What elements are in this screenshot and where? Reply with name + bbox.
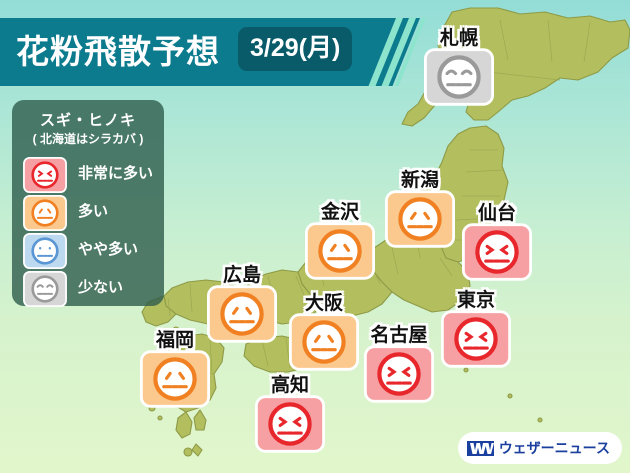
city-label-仙台: 仙台 (478, 198, 516, 225)
city-label-東京: 東京 (457, 285, 495, 312)
legend-label-few: 少ない (78, 276, 123, 297)
city-label-大阪: 大阪 (305, 288, 343, 315)
face-icon-very-many (22, 157, 68, 193)
face-icon-very-many (441, 310, 511, 368)
face-icon-many (140, 350, 210, 408)
face-icon-many (305, 222, 375, 280)
city-marker-金沢[interactable]: 金沢 (305, 222, 375, 280)
face-icon-few (424, 48, 494, 106)
weathernews-mark-icon (467, 440, 494, 457)
legend-row-many: 多い (22, 192, 158, 228)
legend-row-very-many: 非常に多い (22, 154, 158, 190)
legend-label-very-many: 非常に多い (78, 162, 153, 183)
city-marker-名古屋[interactable]: 名古屋 (364, 345, 434, 403)
legend-title: スギ・ヒノキ (12, 109, 164, 130)
legend-label-slightly-many: やや多い (78, 238, 138, 259)
city-marker-新潟[interactable]: 新潟 (385, 190, 455, 248)
weathernews-brand-name: ウェザーニュース (499, 438, 610, 458)
legend-subtitle: ( 北海道はシラカバ ) (12, 130, 164, 147)
city-marker-高知[interactable]: 高知 (255, 395, 325, 453)
face-icon-very-many (364, 345, 434, 403)
face-icon-very-many (255, 395, 325, 453)
legend-label-many: 多い (78, 200, 108, 221)
face-icon-many (207, 285, 277, 343)
face-icon-many (385, 190, 455, 248)
page-title: 花粉飛散予想 (16, 26, 220, 78)
weathernews-logo[interactable]: ウェザーニュース (458, 432, 622, 464)
legend-panel: スギ・ヒノキ ( 北海道はシラカバ ) 非常に多い多いやや多い少ない (12, 100, 164, 306)
city-marker-東京[interactable]: 東京 (441, 310, 511, 368)
face-icon-slightly-many (22, 233, 68, 269)
face-icon-many (22, 195, 68, 231)
forecast-date-badge: 3/29(月) (238, 27, 352, 71)
city-marker-広島[interactable]: 広島 (207, 285, 277, 343)
legend-swatch-few (22, 271, 68, 302)
city-label-福岡: 福岡 (156, 325, 194, 352)
legend-swatch-many (22, 195, 68, 226)
legend-row-slightly-many: やや多い (22, 230, 158, 266)
city-label-名古屋: 名古屋 (370, 320, 427, 347)
city-marker-福岡[interactable]: 福岡 (140, 350, 210, 408)
city-label-金沢: 金沢 (321, 197, 359, 224)
city-label-広島: 広島 (223, 260, 261, 287)
face-icon-very-many (462, 223, 532, 281)
city-label-新潟: 新潟 (401, 165, 439, 192)
city-label-高知: 高知 (271, 370, 309, 397)
legend-swatch-slightly-many (22, 233, 68, 264)
legend-rows: 非常に多い多いやや多い少ない (22, 154, 158, 306)
city-marker-仙台[interactable]: 仙台 (462, 223, 532, 281)
face-icon-few (22, 271, 68, 307)
city-marker-大阪[interactable]: 大阪 (289, 313, 359, 371)
legend-swatch-very-many (22, 157, 68, 188)
legend-row-few: 少ない (22, 268, 158, 304)
pollen-forecast-map: 花粉飛散予想 3/29(月) スギ・ヒノキ ( 北海道はシラカバ ) 非常に多い… (0, 0, 630, 473)
face-icon-many (289, 313, 359, 371)
city-label-札幌: 札幌 (440, 23, 478, 50)
city-marker-札幌[interactable]: 札幌 (424, 48, 494, 106)
